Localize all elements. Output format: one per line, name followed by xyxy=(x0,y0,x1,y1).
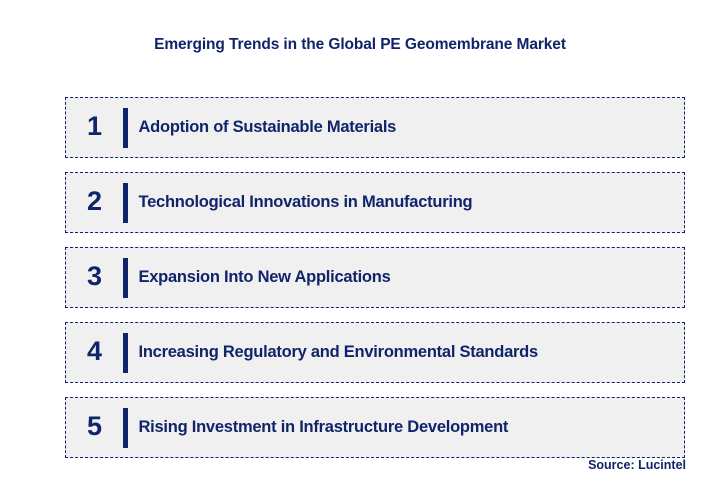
trend-number: 3 xyxy=(66,263,123,292)
trend-row: 4 Increasing Regulatory and Environmenta… xyxy=(65,322,685,383)
trend-label: Adoption of Sustainable Materials xyxy=(128,118,685,137)
trend-row: 5 Rising Investment in Infrastructure De… xyxy=(65,397,685,458)
trend-label: Technological Innovations in Manufacturi… xyxy=(128,193,685,212)
trend-number: 1 xyxy=(66,113,123,142)
trend-number: 5 xyxy=(66,413,123,442)
trend-label: Expansion Into New Applications xyxy=(128,268,685,287)
trend-row: 2 Technological Innovations in Manufactu… xyxy=(65,172,685,233)
trend-number: 4 xyxy=(66,338,123,367)
infographic-page: Emerging Trends in the Global PE Geomemb… xyxy=(0,0,720,491)
trend-list: 1 Adoption of Sustainable Materials 2 Te… xyxy=(65,97,685,458)
trend-row: 3 Expansion Into New Applications xyxy=(65,247,685,308)
trend-number: 2 xyxy=(66,188,123,217)
trend-label: Rising Investment in Infrastructure Deve… xyxy=(128,418,685,437)
page-title: Emerging Trends in the Global PE Geomemb… xyxy=(0,36,720,54)
trend-label: Increasing Regulatory and Environmental … xyxy=(128,343,685,362)
source-attribution: Source: Lucintel xyxy=(588,458,686,472)
trend-row: 1 Adoption of Sustainable Materials xyxy=(65,97,685,158)
